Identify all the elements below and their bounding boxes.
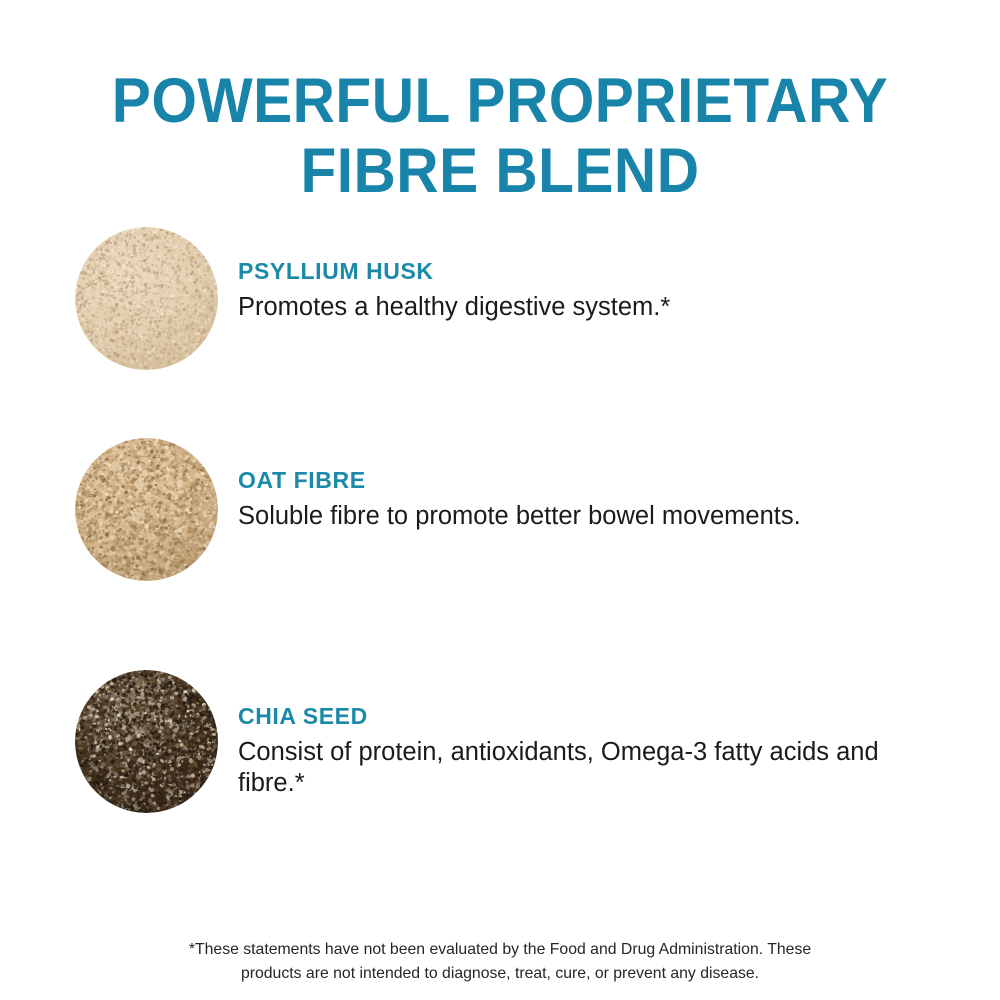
- ingredient-text-block: CHIA SEED Consist of protein, antioxidan…: [238, 703, 958, 799]
- ingredient-name: CHIA SEED: [238, 703, 958, 729]
- ingredient-text-block: PSYLLIUM HUSK Promotes a healthy digesti…: [238, 258, 958, 323]
- fda-disclaimer: *These statements have not been evaluate…: [0, 938, 1000, 986]
- fibre-blend-infographic: POWERFUL PROPRIETARY FIBRE BLEND PSYLLIU…: [0, 0, 1000, 1000]
- ingredient-list: PSYLLIUM HUSK Promotes a healthy digesti…: [0, 0, 1000, 1000]
- chia-seed-photo: [75, 670, 218, 813]
- ingredient-name: OAT FIBRE: [238, 467, 958, 493]
- ingredient-description: Promotes a healthy digestive system.*: [238, 292, 888, 323]
- fda-disclaimer-line-1: *These statements have not been evaluate…: [0, 938, 1000, 962]
- oat-fibre-photo: [75, 438, 218, 581]
- fda-disclaimer-line-2: products are not intended to diagnose, t…: [0, 962, 1000, 986]
- ingredient-description: Soluble fibre to promote better bowel mo…: [238, 501, 888, 532]
- ingredient-text-block: OAT FIBRE Soluble fibre to promote bette…: [238, 467, 958, 532]
- ingredient-name: PSYLLIUM HUSK: [238, 258, 958, 284]
- ingredient-description: Consist of protein, antioxidants, Omega-…: [238, 737, 888, 799]
- psyllium-husk-photo: [75, 227, 218, 370]
